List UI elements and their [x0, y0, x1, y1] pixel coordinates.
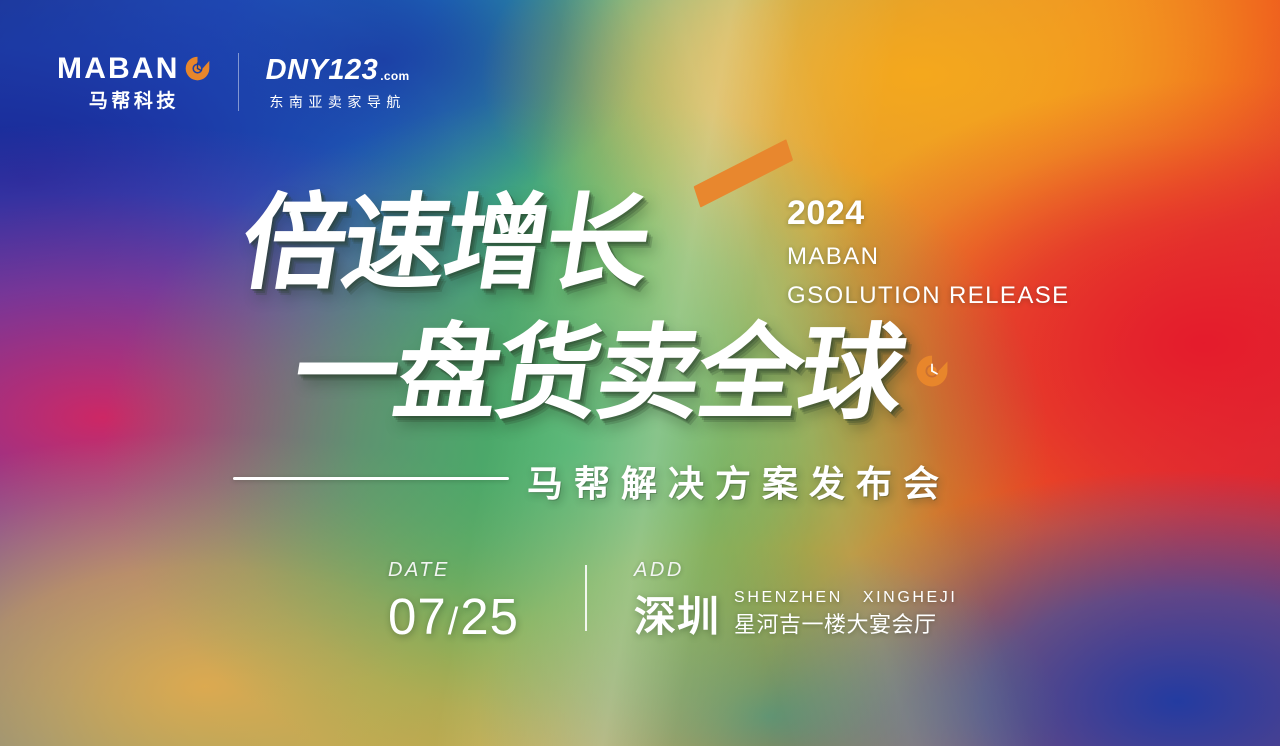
date-block: DATE 07/25 [388, 560, 519, 642]
subtitle: 马帮解决方案发布会 [527, 455, 950, 507]
headline-line-1: 倍速增长 [235, 191, 655, 295]
date-day: 25 [460, 588, 519, 645]
mabang-logo[interactable]: MABAN 马帮科技 [57, 54, 211, 111]
date-label: DATE [388, 560, 519, 580]
promo-banner: MABAN 马帮科技 DNY123 .com 东南亚卖家导 [0, 0, 1280, 746]
dny123-chinese-tagline: 东南亚卖家导航 [269, 95, 406, 109]
mabang-wordmark-row: MABAN [57, 54, 211, 84]
event-footer: DATE 07/25 ADD 深圳 SHENZHENXINGHEJI 星河吉一楼… [388, 560, 957, 642]
headline-line-2: 一盘货卖全球 [287, 321, 909, 425]
address-pinyin: SHENZHENXINGHEJI [734, 590, 957, 606]
dny123-wordmark: DNY123 [266, 56, 379, 85]
address-label: ADD [634, 560, 957, 580]
logo-bar: MABAN 马帮科技 DNY123 .com 东南亚卖家导 [57, 47, 410, 117]
dny123-tld: .com [380, 69, 409, 85]
address-city: 深圳 [634, 596, 720, 638]
address-block: ADD 深圳 SHENZHENXINGHEJI 星河吉一楼大宴会厅 [634, 560, 957, 638]
address-venue: 星河吉一楼大宴会厅 [734, 615, 957, 637]
english-brand-name: MABAN [787, 245, 1070, 269]
date-separator: / [447, 601, 461, 643]
mabang-g-circle-icon [184, 55, 211, 82]
address-row: 深圳 SHENZHENXINGHEJI 星河吉一楼大宴会厅 [634, 590, 957, 638]
dny123-logo[interactable]: DNY123 .com 东南亚卖家导航 [266, 56, 410, 109]
event-year: 2024 [787, 196, 1070, 230]
english-release-title: GSOLUTION RELEASE [787, 284, 1070, 308]
address-detail: SHENZHENXINGHEJI 星河吉一楼大宴会厅 [734, 590, 957, 638]
city-pinyin: SHENZHEN [734, 589, 843, 606]
date-month: 07 [388, 588, 447, 645]
mabang-chinese-name: 马帮科技 [89, 92, 179, 111]
dny123-wordmark-row: DNY123 .com [266, 56, 410, 85]
english-info-block: 2024 MABAN GSOLUTION RELEASE [787, 196, 1070, 308]
venue-pinyin: XINGHEJI [863, 589, 958, 606]
subtitle-rule [233, 477, 509, 480]
footer-divider [585, 565, 587, 631]
orange-globe-swirl-icon [913, 352, 951, 390]
date-value: 07/25 [388, 591, 519, 642]
orange-slash-accent-icon [694, 139, 794, 207]
mabang-wordmark: MABAN [57, 54, 180, 84]
logo-separator [238, 53, 239, 111]
